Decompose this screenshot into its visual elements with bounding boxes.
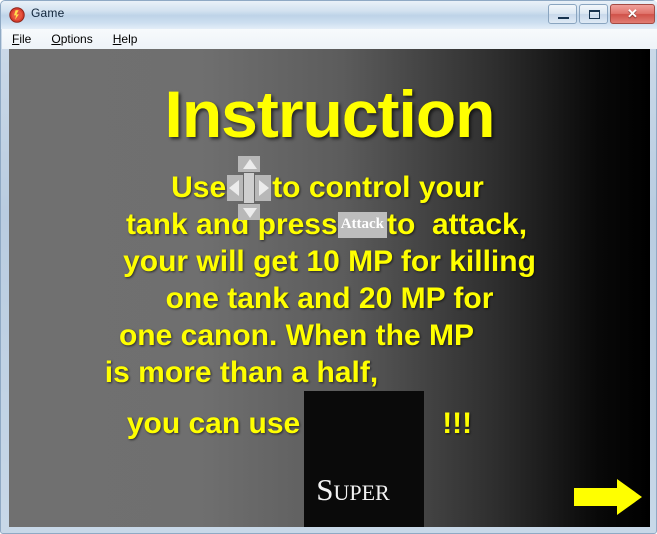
menu-item-help[interactable]: Help	[113, 32, 138, 46]
instruction-line-1: Use to control your	[9, 169, 650, 206]
super-attack-line-1: Super	[316, 471, 412, 509]
menu-help-rest: elp	[121, 32, 137, 46]
instruction-line-6: is more than a half,	[9, 354, 650, 391]
java-coffee-cup-icon	[9, 7, 25, 23]
dpad-center	[244, 173, 254, 203]
window-title: Game	[31, 6, 64, 20]
title-bar: Game ✕	[1, 1, 657, 29]
menu-item-file[interactable]: File	[12, 32, 31, 46]
game-window: Game ✕ File Options Help Instruction Use	[0, 0, 657, 534]
instruction-line-2: tank and press Attack to attack,	[9, 206, 650, 243]
menu-bar: File Options Help	[2, 29, 657, 49]
next-arrow-icon[interactable]	[572, 477, 644, 517]
instruction-line-3: your will get 10 MP for killing	[9, 243, 650, 280]
instruction-line-2-after: to attack,	[387, 206, 527, 243]
close-icon: ✕	[611, 5, 654, 23]
instruction-line-4: one tank and 20 MP for	[9, 280, 650, 317]
arrow-keys-cluster-icon	[227, 156, 271, 220]
window-controls: ✕	[548, 4, 655, 24]
arrow-up-glyph	[243, 159, 257, 169]
page-title: Instruction	[9, 81, 650, 147]
instruction-line-7: you can use Super Attack !!!	[9, 391, 650, 527]
super-attack-plate: Super Attack	[304, 391, 424, 527]
menu-item-options[interactable]: Options	[51, 32, 92, 46]
arrow-right-glyph	[259, 180, 269, 196]
minimize-button[interactable]	[548, 4, 577, 24]
attack-key-badge: Attack	[338, 212, 387, 238]
close-button[interactable]: ✕	[610, 4, 655, 24]
instruction-line-1-before: Use	[171, 169, 226, 206]
menu-options-rest: ptions	[61, 32, 93, 46]
maximize-button[interactable]	[579, 4, 608, 24]
menu-file-rest: ile	[19, 32, 31, 46]
menu-options-mnemonic: O	[51, 32, 60, 46]
maximize-icon	[589, 10, 600, 19]
instruction-line-5: one canon. When the MP	[9, 317, 650, 354]
game-canvas[interactable]: Instruction Use to control your	[9, 49, 650, 527]
instruction-text-block: Use to control your tank and press At	[9, 169, 650, 527]
arrow-left-glyph	[229, 180, 239, 196]
minimize-icon	[558, 17, 569, 19]
instruction-line-7-after: !!!	[442, 391, 472, 442]
arrow-down-glyph	[243, 208, 257, 218]
